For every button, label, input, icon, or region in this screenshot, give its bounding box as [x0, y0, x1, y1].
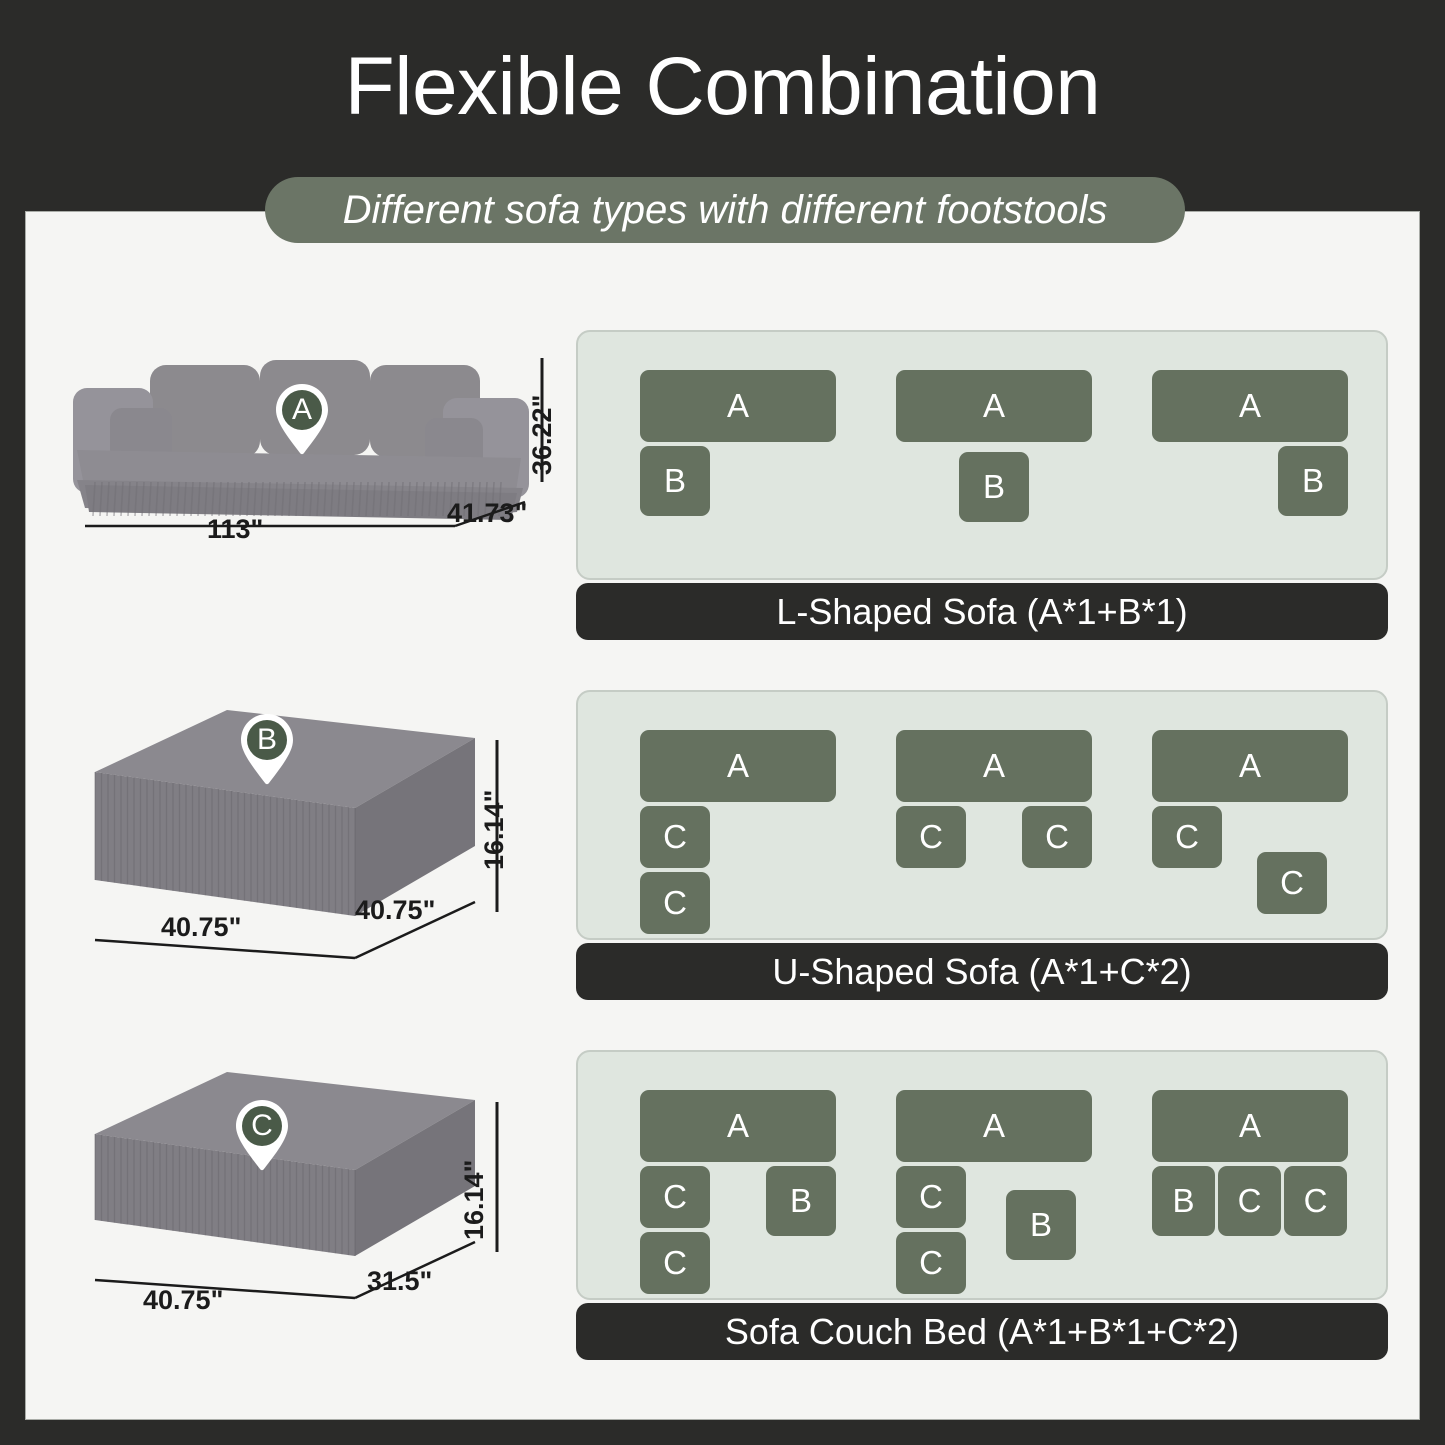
product-illustration-a: A113"41.73"36.22" — [55, 330, 555, 640]
map-pin-icon: C — [233, 1098, 291, 1172]
module-block-b[interactable]: B — [1278, 446, 1348, 516]
module-block-c[interactable]: C — [1284, 1166, 1347, 1236]
combination-board: ACCBACCBABCC — [576, 1050, 1388, 1300]
map-pin-label: A — [273, 391, 331, 429]
map-pin-label: C — [233, 1107, 291, 1145]
product-illustration-c: C40.75"31.5"16.14" — [55, 1050, 555, 1360]
layout-config-center[interactable]: AB — [896, 332, 1096, 582]
dimension-depth-label: 40.75" — [355, 895, 435, 926]
panel-caption-text: Sofa Couch Bed (A*1+B*1+C*2) — [725, 1311, 1239, 1353]
module-block-c[interactable]: C — [1022, 806, 1092, 868]
map-pin-icon: B — [238, 712, 296, 786]
module-block-a[interactable]: A — [1152, 370, 1348, 442]
module-block-c[interactable]: C — [896, 1232, 966, 1294]
module-block-a[interactable]: A — [896, 1090, 1092, 1162]
module-block-c[interactable]: C — [1257, 852, 1327, 914]
layout-config-left[interactable]: AB — [640, 332, 840, 582]
module-block-b[interactable]: B — [1152, 1166, 1215, 1236]
subtitle-text: Different sofa types with different foot… — [343, 188, 1108, 233]
combination-panel: ACCBACCBABCCSofa Couch Bed (A*1+B*1+C*2) — [576, 1050, 1388, 1360]
layout-config-right[interactable]: AB — [1152, 332, 1352, 582]
combination-board: ACCACCACC — [576, 690, 1388, 940]
module-block-b[interactable]: B — [1006, 1190, 1076, 1260]
map-pin-label: B — [238, 721, 296, 759]
layout-config-center[interactable]: ACC — [896, 692, 1096, 942]
module-block-c[interactable]: C — [640, 1166, 710, 1228]
dimension-height-label: 16.14" — [479, 790, 510, 870]
combination-board: ABABAB — [576, 330, 1388, 580]
module-block-c[interactable]: C — [640, 806, 710, 868]
panel-caption: L-Shaped Sofa (A*1+B*1) — [576, 583, 1388, 640]
combination-panel: ABABABL-Shaped Sofa (A*1+B*1) — [576, 330, 1388, 640]
dimension-depth-label: 41.73" — [447, 498, 527, 529]
subtitle-pill: Different sofa types with different foot… — [265, 177, 1185, 243]
panel-caption-text: U-Shaped Sofa (A*1+C*2) — [772, 951, 1191, 993]
module-block-a[interactable]: A — [1152, 1090, 1348, 1162]
layout-config-right[interactable]: ABCC — [1152, 1052, 1352, 1302]
module-block-a[interactable]: A — [640, 1090, 836, 1162]
layout-config-right[interactable]: ACC — [1152, 692, 1352, 942]
module-block-a[interactable]: A — [896, 370, 1092, 442]
module-block-a[interactable]: A — [896, 730, 1092, 802]
module-block-a[interactable]: A — [1152, 730, 1348, 802]
page-title: Flexible Combination — [0, 46, 1445, 128]
module-block-a[interactable]: A — [640, 370, 836, 442]
panel-caption-text: L-Shaped Sofa (A*1+B*1) — [776, 591, 1187, 633]
module-block-b[interactable]: B — [640, 446, 710, 516]
map-pin-icon: A — [273, 382, 331, 456]
dimension-depth-label: 31.5" — [367, 1266, 432, 1297]
combination-panel: ACCACCACCU-Shaped Sofa (A*1+C*2) — [576, 690, 1388, 1000]
module-block-c[interactable]: C — [1218, 1166, 1281, 1236]
panel-caption: U-Shaped Sofa (A*1+C*2) — [576, 943, 1388, 1000]
layout-config-left[interactable]: ACCB — [640, 1052, 840, 1302]
dimension-width-label: 113" — [207, 514, 263, 545]
dimension-height-label: 36.22" — [527, 395, 558, 475]
module-block-c[interactable]: C — [640, 1232, 710, 1294]
module-block-c[interactable]: C — [896, 1166, 966, 1228]
module-block-c[interactable]: C — [640, 872, 710, 934]
module-block-b[interactable]: B — [766, 1166, 836, 1236]
product-image — [55, 330, 555, 640]
panel-caption: Sofa Couch Bed (A*1+B*1+C*2) — [576, 1303, 1388, 1360]
dimension-height-label: 16.14" — [459, 1160, 490, 1240]
dimension-width-label: 40.75" — [143, 1285, 223, 1316]
layout-config-left[interactable]: ACC — [640, 692, 840, 942]
module-block-c[interactable]: C — [1152, 806, 1222, 868]
module-block-c[interactable]: C — [896, 806, 966, 868]
dimension-width-label: 40.75" — [161, 912, 241, 943]
product-illustration-b: B40.75"40.75"16.14" — [55, 690, 555, 1000]
module-block-b[interactable]: B — [959, 452, 1029, 522]
module-block-a[interactable]: A — [640, 730, 836, 802]
layout-config-center[interactable]: ACCB — [896, 1052, 1096, 1302]
